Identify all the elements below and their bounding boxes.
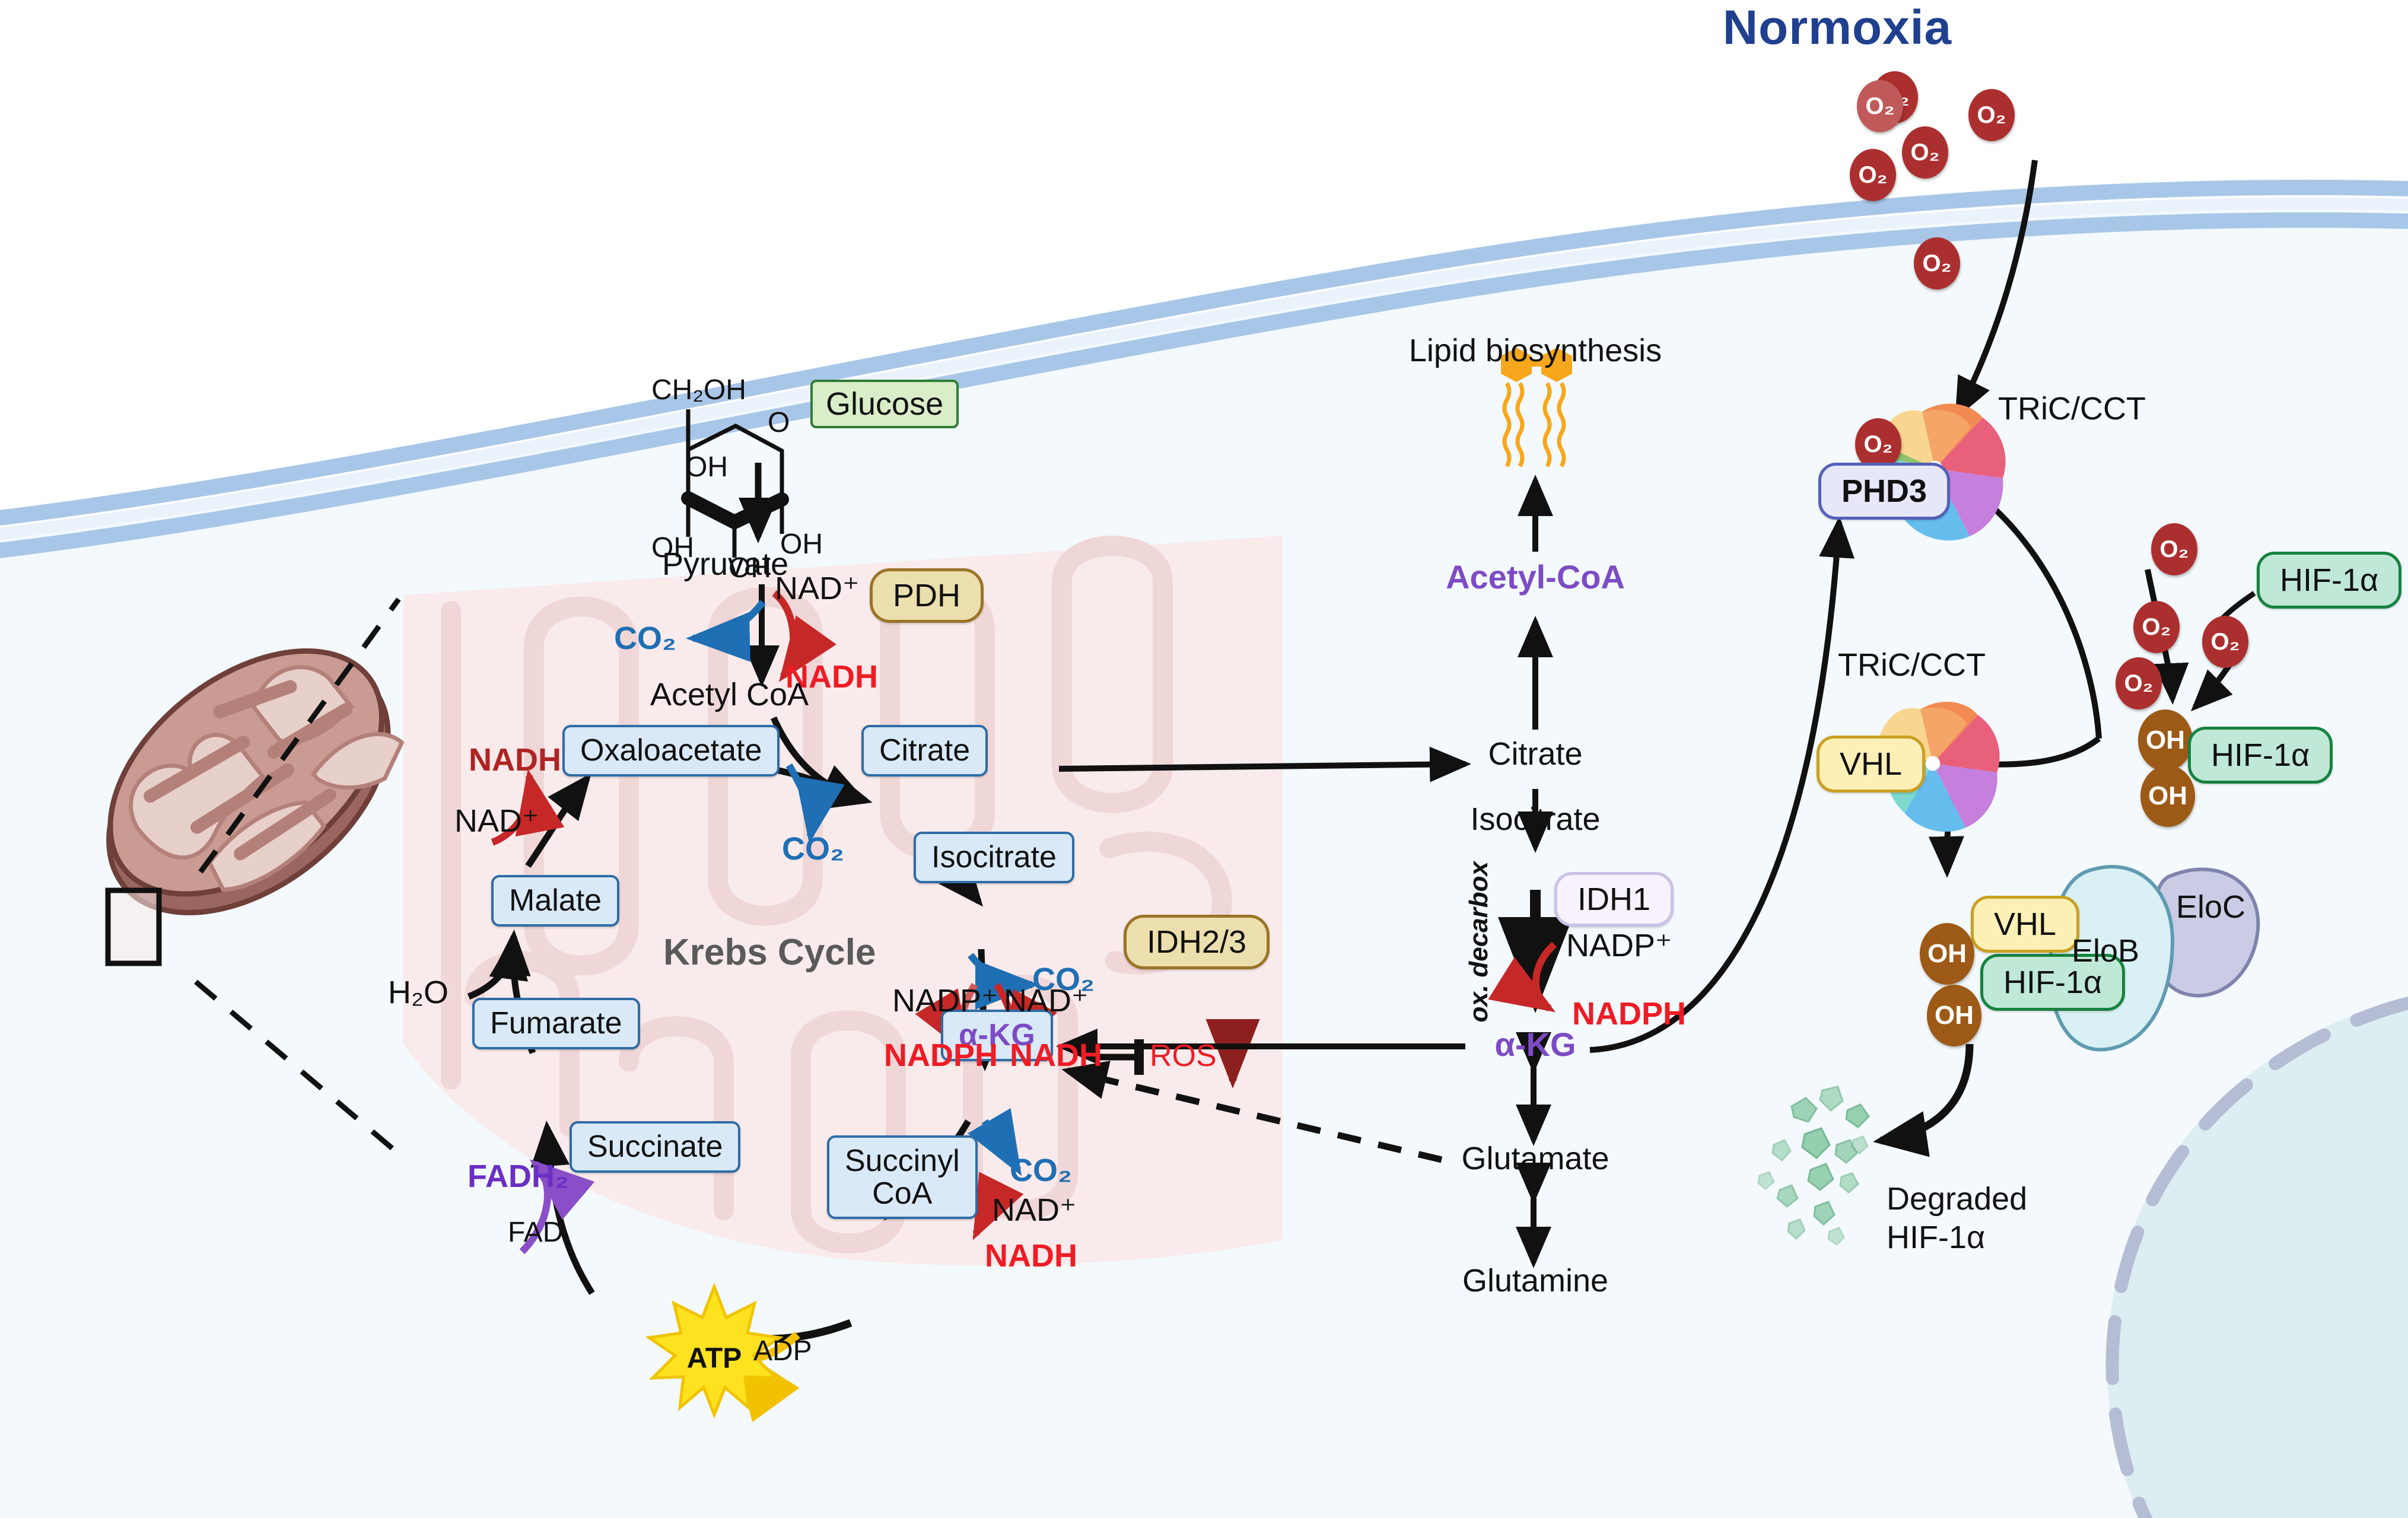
metabolite-malate[interactable]: Malate: [491, 875, 619, 927]
ox-decarbox-label: ox. decarbox: [1465, 861, 1493, 1022]
o2-molecule: O₂: [1902, 126, 1948, 179]
nad-plus-pdh-label: NAD⁺: [775, 569, 860, 607]
elob-label: EloB: [2072, 933, 2139, 969]
nadh-idh-label: NADH: [1010, 1037, 1102, 1074]
o2-molecule: O₂: [2202, 616, 2248, 668]
vhl-protein[interactable]: VHL: [1817, 736, 1925, 793]
o2-molecule: O₂: [1968, 89, 2015, 141]
cyto-nadp-plus-label: NADP⁺: [1566, 927, 1672, 964]
nad-plus-akg-label: NAD⁺: [992, 1191, 1077, 1229]
o2-molecule: O₂: [2133, 601, 2180, 653]
adp-label: ADP: [753, 1335, 812, 1367]
cell-background: [0, 0, 2408, 1518]
metabolite-oxaloacetate[interactable]: Oxaloacetate: [562, 725, 780, 776]
acetyl-coa-label: Acetyl CoA: [650, 676, 809, 713]
idh1-enzyme[interactable]: IDH1: [1554, 872, 1674, 927]
fad-label: FAD: [508, 1216, 563, 1249]
metabolite-citrate[interactable]: Citrate: [861, 725, 988, 776]
cyto-isocitrate-label: Isocitrate: [1470, 801, 1600, 838]
ox-decarbox-line2: decarbox: [1464, 861, 1493, 978]
oh-group: OH: [1927, 985, 1981, 1046]
krebs-cycle-title: Krebs Cycle: [663, 931, 876, 973]
degraded-hif-label-line1: Degraded: [1887, 1180, 2027, 1217]
metabolite-succinate[interactable]: Succinate: [570, 1121, 740, 1173]
nad-plus-idh-label: NAD⁺: [1004, 982, 1089, 1019]
succinyl-coa-line2: CoA: [872, 1176, 932, 1211]
cyto-akg-label: α-KG: [1494, 1025, 1576, 1064]
fadh2-label: FADH₂: [467, 1158, 569, 1195]
tric-cct-label-bottom: TRiC/CCT: [1838, 647, 1986, 683]
co2-pyruvate-label: CO₂: [614, 620, 676, 657]
oh-group: OH: [2140, 765, 2195, 827]
o2-molecule: O₂: [2151, 523, 2197, 575]
glucose-label: Glucose: [810, 380, 959, 428]
metabolite-fumarate[interactable]: Fumarate: [472, 998, 640, 1049]
cyto-citrate-label: Citrate: [1488, 736, 1582, 772]
nad-plus-malate-label: NAD⁺: [454, 802, 539, 839]
o2-molecule: O₂: [1857, 80, 1903, 132]
co2-citrate-label: CO₂: [782, 830, 844, 867]
ox-decarbox-line1: ox.: [1464, 985, 1493, 1023]
glutamine-label: Glutamine: [1462, 1262, 1608, 1299]
hif1a-protein-free[interactable]: HIF-1α: [2257, 552, 2401, 609]
vhl-protein-in-complex[interactable]: VHL: [1971, 896, 2079, 953]
eloc-label: EloC: [2176, 889, 2245, 925]
co2-akg-label: CO₂: [1010, 1152, 1072, 1189]
pyruvate-label: Pyruvate: [662, 546, 788, 583]
glucose-o-label: O: [768, 406, 790, 439]
oh-group: OH: [2138, 709, 2193, 771]
cyto-acetyl-coa-label: Acetyl-CoA: [1446, 558, 1625, 596]
glucose-oh-top-label: OH: [685, 451, 728, 483]
idh23-enzyme[interactable]: IDH2/3: [1124, 915, 1270, 969]
nadph-idh-label: NADPH: [884, 1037, 998, 1074]
tric-cct-label-top: TRiC/CCT: [1998, 390, 2146, 427]
h2o-label: H₂O: [388, 974, 448, 1011]
o2-molecule: O₂: [1914, 237, 1960, 289]
glutamate-label: Glutamate: [1461, 1140, 1609, 1177]
hif1a-protein-hydroxylated[interactable]: HIF-1α: [2188, 727, 2333, 784]
nadp-plus-idh-label: NADP⁺: [892, 982, 998, 1019]
pdh-enzyme[interactable]: PDH: [870, 568, 984, 623]
normoxia-title: Normoxia: [1723, 0, 1952, 56]
mitochondrion-zoom-box: [108, 890, 159, 963]
metabolite-succinyl-coa[interactable]: Succinyl CoA: [827, 1135, 978, 1219]
atp-label: ATP: [687, 1342, 742, 1375]
o2-molecule: O₂: [1850, 149, 1896, 201]
glucose-ch2oh-label: CH₂OH: [651, 374, 746, 406]
cyto-nadph-label: NADPH: [1572, 995, 1686, 1032]
nadh-malate-label: NADH: [469, 742, 561, 778]
pathway-diagram: Normoxia O₂ O₂ O₂ O₂ O₂ O₂ TRiC/CCT TRiC…: [0, 0, 2408, 1518]
succinyl-coa-line1: Succinyl: [845, 1144, 960, 1178]
oh-group: OH: [1920, 923, 1974, 985]
nadh-akg-label: NADH: [985, 1237, 1077, 1274]
metabolite-isocitrate[interactable]: Isocitrate: [914, 832, 1074, 883]
lipid-biosynthesis-label: Lipid biosynthesis: [1409, 332, 1662, 369]
phd3-protein[interactable]: PHD3: [1818, 463, 1950, 520]
ros-label: ROS: [1150, 1038, 1217, 1074]
o2-molecule: O₂: [2116, 657, 2162, 709]
degraded-hif-label-line2: HIF-1α: [1887, 1219, 1985, 1256]
